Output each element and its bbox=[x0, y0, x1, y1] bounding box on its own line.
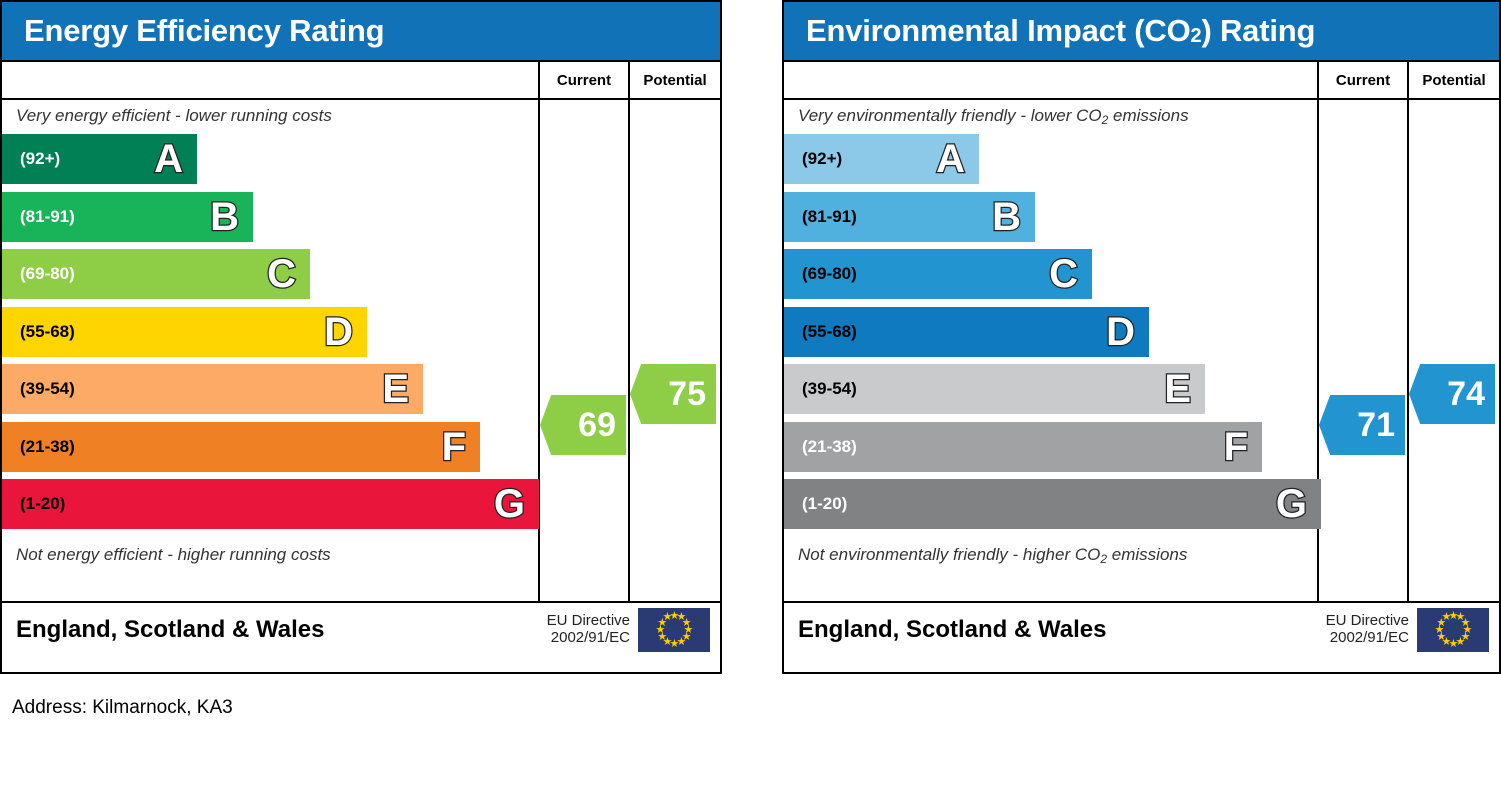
energy-chart-title-text: Energy Efficiency Rating bbox=[24, 13, 384, 49]
co2-current-rating-marker: 71 bbox=[1319, 395, 1405, 455]
co2-bottom-caption-tail: emissions bbox=[1107, 545, 1187, 564]
co2-bottom-caption-text: Not environmentally friendly - higher CO bbox=[798, 545, 1100, 564]
energy-potential-header: Potential bbox=[630, 62, 720, 98]
energy-header-spacer bbox=[2, 62, 540, 98]
energy-footer-region: England, Scotland & Wales bbox=[2, 616, 547, 644]
co2-potential-header: Potential bbox=[1409, 62, 1499, 98]
band-range-label: (92+) bbox=[20, 149, 60, 169]
co2-top-caption-sub: 2 bbox=[1102, 113, 1109, 127]
eu-flag-icon: ★★★★★★★★★★★★ bbox=[638, 608, 710, 652]
band-letter-d: D bbox=[1106, 312, 1135, 352]
co2-header-spacer bbox=[784, 62, 1319, 98]
co2-directive-line1: EU Directive bbox=[1326, 613, 1409, 630]
co2-footer-directive: EU Directive 2002/91/EC bbox=[1326, 613, 1417, 647]
co2-top-caption-text: Very environmentally friendly - lower CO bbox=[798, 106, 1102, 125]
co2-chart-body: Current Potential Very environmentally f… bbox=[784, 60, 1499, 657]
energy-current-column: 69 bbox=[540, 100, 630, 601]
band-f: (21-38)F bbox=[2, 422, 480, 472]
band-g: (1-20)G bbox=[784, 479, 1321, 529]
co2-footer-region: England, Scotland & Wales bbox=[784, 616, 1326, 644]
band-letter-f: F bbox=[442, 427, 466, 467]
band-range-label: (1-20) bbox=[802, 494, 847, 514]
band-b: (81-91)B bbox=[2, 192, 253, 242]
co2-potential-rating-marker: 74 bbox=[1409, 364, 1495, 424]
band-g: (1-20)G bbox=[2, 479, 539, 529]
band-range-label: (39-54) bbox=[20, 379, 75, 399]
energy-footer-directive: EU Directive 2002/91/EC bbox=[547, 613, 638, 647]
eu-star-icon: ★ bbox=[1442, 613, 1451, 622]
co2-title-subscript: 2 bbox=[1191, 25, 1202, 48]
energy-potential-rating-marker: 75 bbox=[630, 364, 716, 424]
band-range-label: (21-38) bbox=[20, 437, 75, 457]
band-f: (21-38)F bbox=[784, 422, 1262, 472]
band-b: (81-91)B bbox=[784, 192, 1035, 242]
co2-current-header: Current bbox=[1319, 62, 1409, 98]
co2-directive-line2: 2002/91/EC bbox=[1326, 630, 1409, 647]
band-letter-e: E bbox=[382, 369, 409, 409]
band-letter-a: A bbox=[154, 139, 183, 179]
energy-grid-area: Very energy efficient - lower running co… bbox=[2, 98, 720, 601]
energy-potential-column: 75 bbox=[630, 100, 720, 601]
band-a: (92+)A bbox=[784, 134, 979, 184]
band-letter-e: E bbox=[1164, 369, 1191, 409]
property-address: Address: Kilmarnock, KA3 bbox=[12, 697, 233, 719]
energy-footer: England, Scotland & Wales EU Directive 2… bbox=[2, 601, 720, 657]
band-letter-c: C bbox=[1049, 254, 1078, 294]
energy-band-list: (92+)A(81-91)B(69-80)C(55-68)D(39-54)E(2… bbox=[2, 134, 538, 538]
band-letter-b: B bbox=[210, 197, 239, 237]
band-range-label: (55-68) bbox=[20, 322, 75, 342]
band-range-label: (81-91) bbox=[20, 207, 75, 227]
energy-top-caption: Very energy efficient - lower running co… bbox=[2, 100, 538, 134]
band-e: (39-54)E bbox=[2, 364, 423, 414]
band-letter-c: C bbox=[267, 254, 296, 294]
co2-grid-area: Very environmentally friendly - lower CO… bbox=[784, 98, 1499, 601]
band-letter-f: F bbox=[1224, 427, 1248, 467]
energy-bands-column: Very energy efficient - lower running co… bbox=[2, 100, 540, 601]
band-range-label: (81-91) bbox=[802, 207, 857, 227]
co2-chart-title-text: Environmental Impact (CO bbox=[806, 13, 1191, 49]
energy-directive-line2: 2002/91/EC bbox=[547, 630, 630, 647]
band-letter-a: A bbox=[936, 139, 965, 179]
band-range-label: (69-80) bbox=[20, 264, 75, 284]
energy-chart-body: Current Potential Very energy efficient … bbox=[2, 60, 720, 657]
co2-bottom-caption: Not environmentally friendly - higher CO… bbox=[784, 538, 1317, 572]
co2-current-column: 71 bbox=[1319, 100, 1409, 601]
co2-bottom-caption-sub: 2 bbox=[1100, 552, 1107, 566]
band-range-label: (92+) bbox=[802, 149, 842, 169]
co2-title-tail: ) Rating bbox=[1201, 13, 1315, 49]
energy-current-rating-marker: 69 bbox=[540, 395, 626, 455]
band-e: (39-54)E bbox=[784, 364, 1205, 414]
band-range-label: (69-80) bbox=[802, 264, 857, 284]
co2-column-header-row: Current Potential bbox=[784, 60, 1499, 98]
energy-bottom-caption: Not energy efficient - higher running co… bbox=[2, 538, 538, 572]
co2-chart-title: Environmental Impact (CO2) Rating bbox=[784, 2, 1499, 60]
energy-efficiency-chart: Energy Efficiency Rating Current Potenti… bbox=[0, 0, 722, 674]
energy-directive-line1: EU Directive bbox=[547, 613, 630, 630]
energy-column-header-row: Current Potential bbox=[2, 60, 720, 98]
band-letter-g: G bbox=[494, 484, 525, 524]
band-letter-d: D bbox=[324, 312, 353, 352]
energy-current-header: Current bbox=[540, 62, 630, 98]
co2-top-caption-tail: emissions bbox=[1108, 106, 1188, 125]
environmental-impact-chart: Environmental Impact (CO2) Rating Curren… bbox=[782, 0, 1501, 674]
eu-flag-icon: ★★★★★★★★★★★★ bbox=[1417, 608, 1489, 652]
energy-chart-title: Energy Efficiency Rating bbox=[2, 2, 720, 60]
band-letter-g: G bbox=[1276, 484, 1307, 524]
co2-band-list: (92+)A(81-91)B(69-80)C(55-68)D(39-54)E(2… bbox=[784, 134, 1317, 538]
band-range-label: (21-38) bbox=[802, 437, 857, 457]
band-d: (55-68)D bbox=[784, 307, 1149, 357]
band-d: (55-68)D bbox=[2, 307, 367, 357]
band-range-label: (55-68) bbox=[802, 322, 857, 342]
band-c: (69-80)C bbox=[2, 249, 310, 299]
band-range-label: (39-54) bbox=[802, 379, 857, 399]
band-c: (69-80)C bbox=[784, 249, 1092, 299]
co2-top-caption: Very environmentally friendly - lower CO… bbox=[784, 100, 1317, 134]
co2-bands-column: Very environmentally friendly - lower CO… bbox=[784, 100, 1319, 601]
co2-potential-column: 74 bbox=[1409, 100, 1499, 601]
band-a: (92+)A bbox=[2, 134, 197, 184]
co2-footer: England, Scotland & Wales EU Directive 2… bbox=[784, 601, 1499, 657]
eu-star-icon: ★ bbox=[663, 613, 672, 622]
band-range-label: (1-20) bbox=[20, 494, 65, 514]
band-letter-b: B bbox=[992, 197, 1021, 237]
